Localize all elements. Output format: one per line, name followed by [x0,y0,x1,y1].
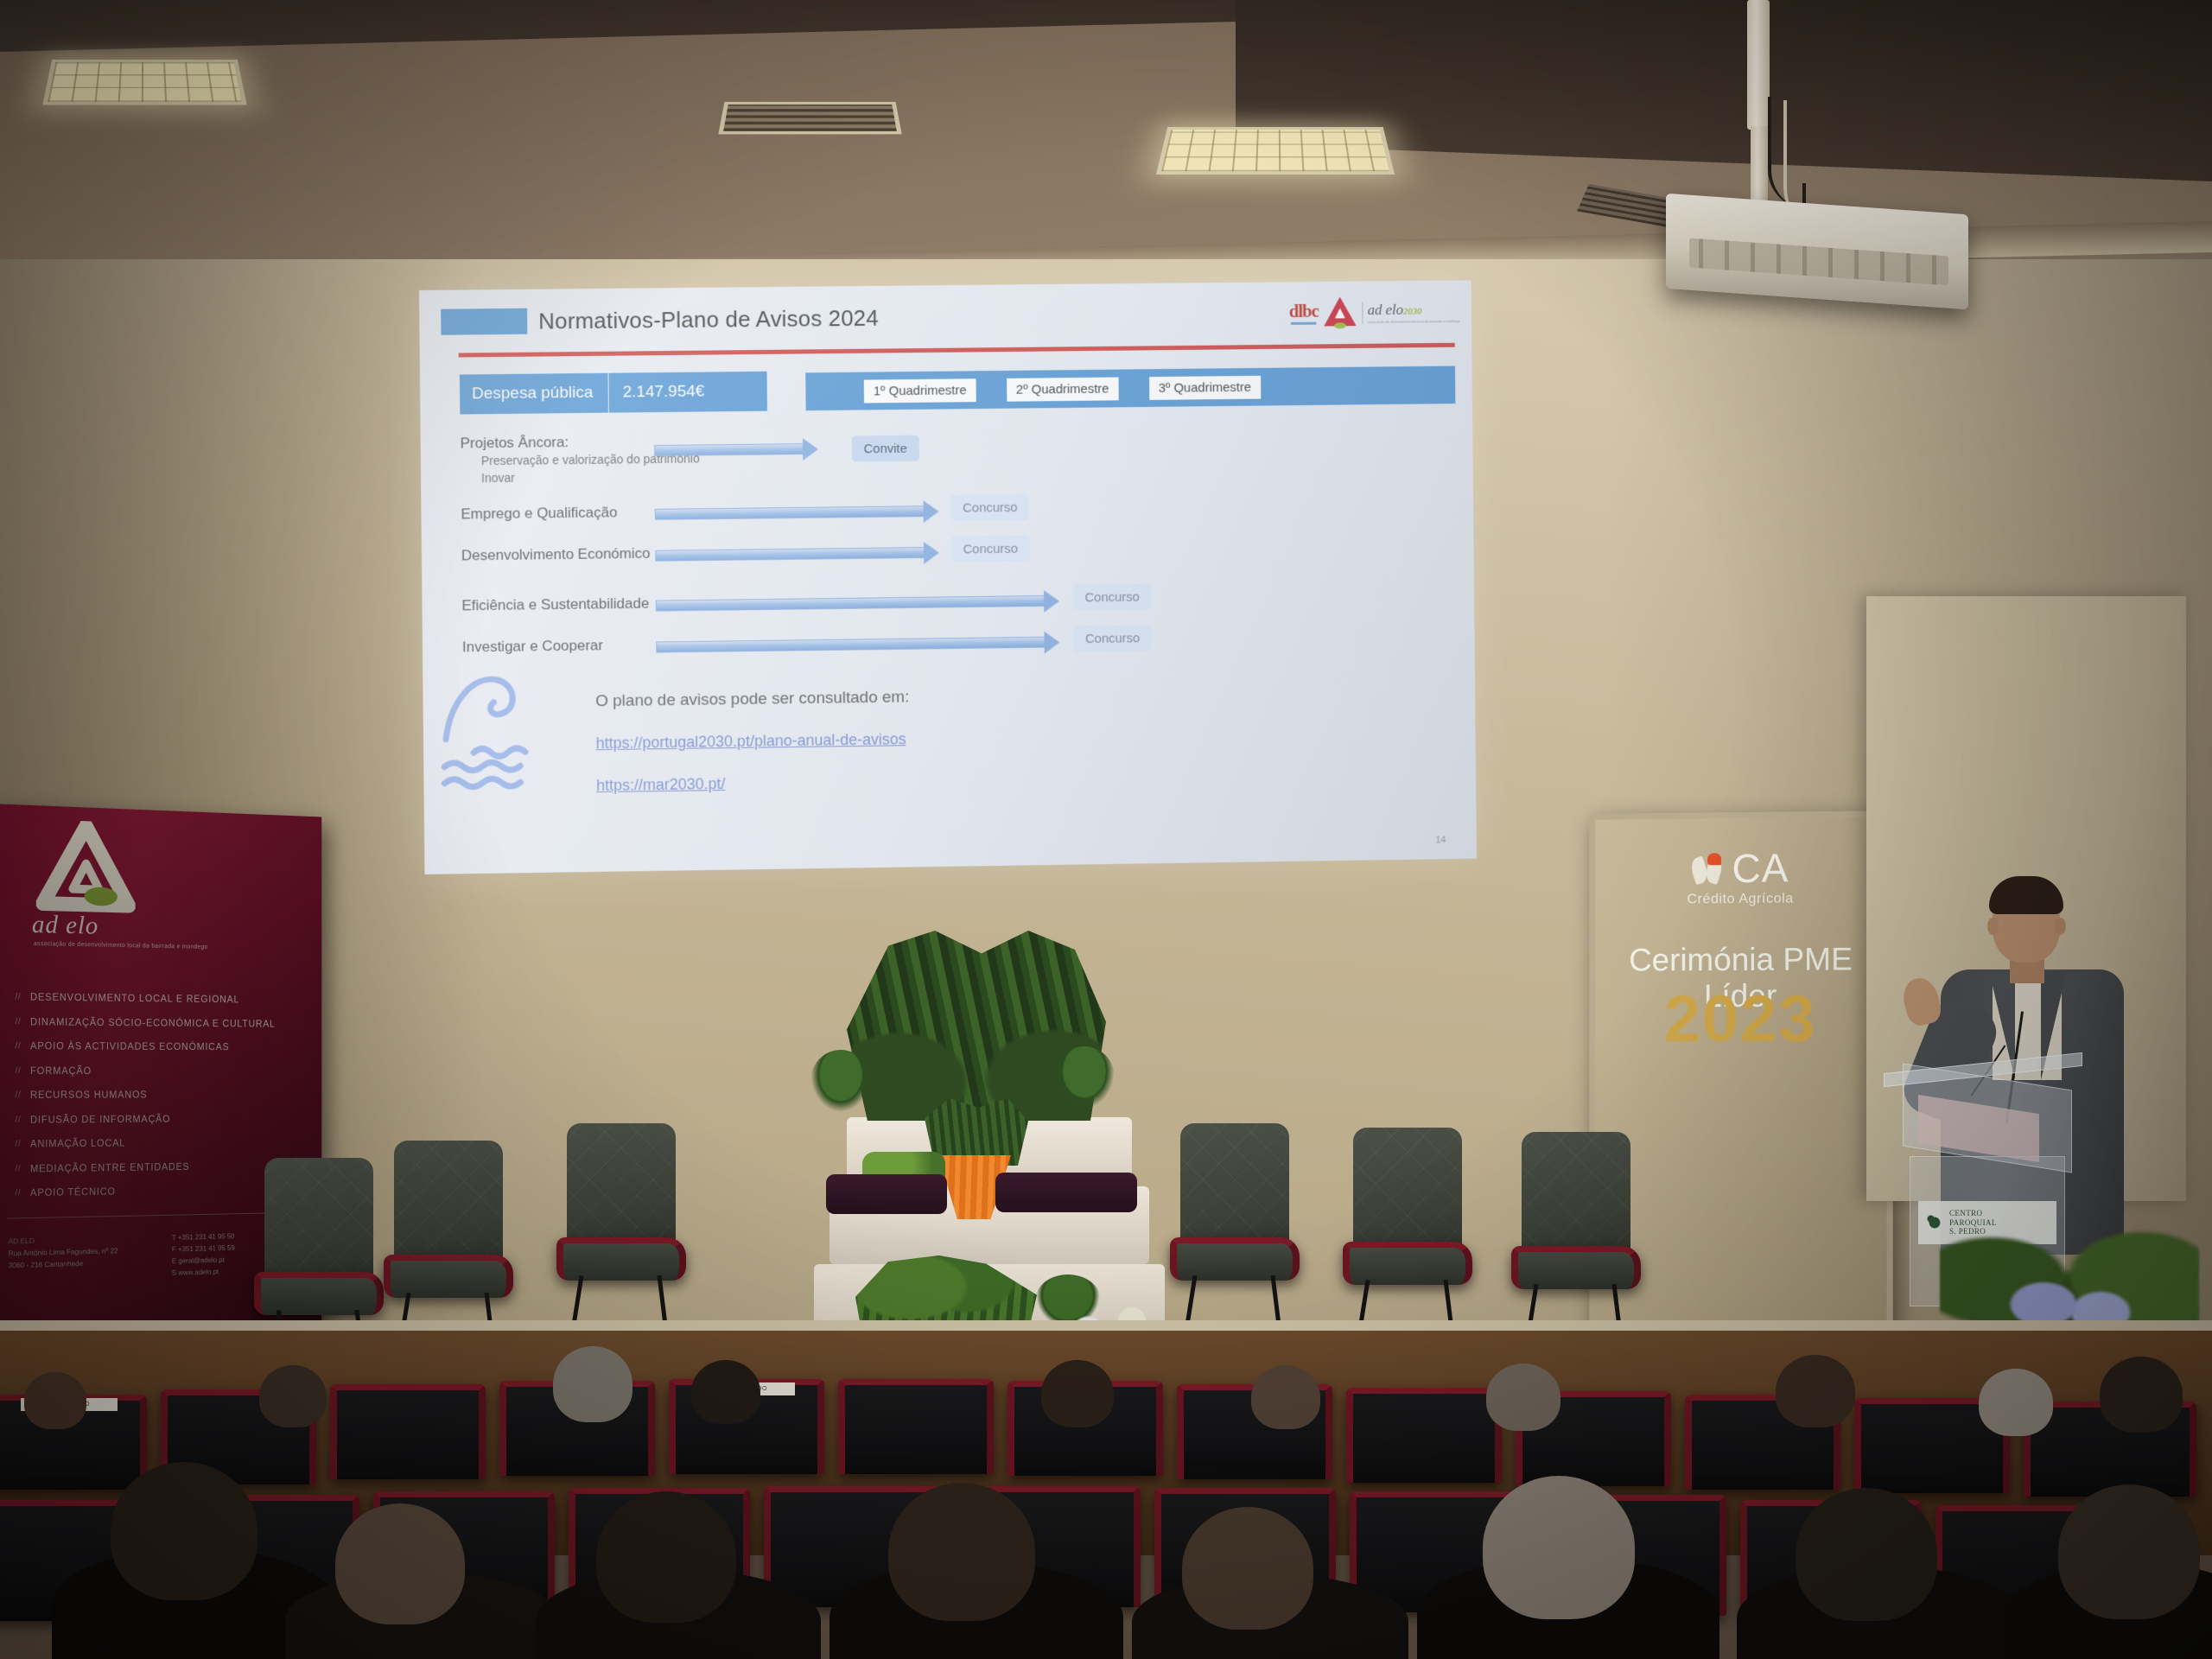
audience-head [1486,1363,1560,1431]
slide-title-rule [459,343,1455,358]
despesa-publica-value: 2.147.954€ [609,383,705,403]
audience-head [596,1491,736,1623]
audience-head [553,1346,632,1422]
row-chip-concurso: Concurso [1073,583,1152,610]
links-block: O plano de avisos pode ser consultado em… [595,688,910,819]
audience-area: RESERVADO RESERVADO [0,1331,2212,1659]
wave-icon [438,669,534,799]
row-chip-convite: Convite [852,435,919,462]
row-chip-concurso: Concurso [950,494,1029,521]
link-portugal2030[interactable]: https://portugal2030.pt/plano-anual-de-a… [596,730,910,753]
auditorium-seat[interactable] [1346,1388,1502,1483]
projection-screen: Normativos-Plano de Avisos 2024 dlbc ad … [419,280,1477,874]
quadrimestre-bar: 1º Quadrimestre 2º Quadrimestre 3º Quadr… [805,366,1455,411]
timeline-row: Projetos Âncora: Preservação e valorizaç… [461,424,1462,501]
row-label: Desenvolvimento Económico [461,545,651,565]
speaker-ear-right [2055,918,2066,935]
row-sublabel-2: Inovar [481,471,515,485]
speaker-ear-left [1987,918,1999,935]
light-panel-center [1156,127,1395,175]
stage-chair [1508,1132,1643,1331]
leafy-green-right [1054,1046,1115,1109]
ceiling-air-vent [718,102,901,135]
slide-title-accent-tab [441,308,527,335]
presentation-slide: Normativos-Plano de Avisos 2024 dlbc ad … [419,280,1477,874]
purple-lettuce-left [826,1174,947,1214]
projector-pole [1747,0,1770,130]
auditorium-seat[interactable] [330,1384,486,1479]
audience-head [335,1503,465,1624]
audience-head [259,1365,327,1427]
row-arrow [656,595,1046,612]
audience-head [2100,1357,2183,1433]
audience-head [1979,1369,2053,1436]
audience-head [1182,1507,1313,1630]
despesa-publica-label: Despesa pública [460,384,608,404]
row-label: Investigar e Cooperar [462,637,603,656]
dlbc-logo: dlbc [1289,302,1319,325]
adelo-triangle-icon [1324,296,1357,329]
purple-lettuce-right [995,1173,1137,1212]
row-chip-concurso: Concurso [951,536,1030,563]
row-arrow [654,443,804,456]
stage-chair [380,1141,515,1339]
audience-head [1251,1365,1320,1429]
slide-number: 14 [1435,835,1446,845]
audience-head [1041,1360,1114,1427]
auditorium-seat[interactable] [838,1379,994,1474]
row-label: Emprego e Qualificação [461,504,617,523]
despesa-publica-box: Despesa pública 2.147.954€ [460,372,767,415]
speaker-hair [1989,876,2063,914]
quadrimestre-1-chip: 1º Quadrimestre [864,378,976,403]
audience-head [2058,1484,2200,1619]
audience-head [24,1372,86,1429]
row-chip-concurso: Concurso [1073,625,1152,652]
audience-head [1776,1355,1855,1427]
stage-chair [1166,1123,1301,1322]
adelo-logo: ad elo2030 associação de desenvolvimento… [1363,301,1460,324]
slide-logo-group: dlbc ad elo2030 associação de desenvolvi… [1289,296,1460,330]
audience-head [111,1462,257,1600]
row-arrow [656,637,1046,653]
audience-head [888,1483,1035,1621]
stage-chair [553,1123,688,1322]
light-panel-left [42,60,246,105]
conference-hall-scene: Normativos-Plano de Avisos 2024 dlbc ad … [0,0,2212,1659]
adelo-logo-year: 2030 [1403,307,1422,317]
audience-head [1483,1476,1635,1619]
dlbc-logo-text: dlbc [1289,302,1319,321]
despesa-publica-row: Despesa pública 2.147.954€ 1º Quadrimest… [460,365,1455,415]
quadrimestre-2-chip: 2º Quadrimestre [1007,377,1119,401]
audience-head [1796,1488,1937,1621]
row-label: Eficiência e Sustentabilidade [461,595,649,615]
audience-head [691,1360,760,1424]
leafy-green-left [810,1050,871,1112]
adelo-logo-text: ad elo2030 [1368,301,1460,319]
link-mar2030[interactable]: https://mar2030.pt/ [596,772,910,795]
slide-title: Normativos-Plano de Avisos 2024 [538,305,879,335]
links-lead-text: O plano de avisos pode ser consultado em… [595,688,909,711]
row-label: Projetos Âncora: [461,434,569,452]
stage-chair [1339,1128,1474,1326]
dlbc-logo-bar [1291,322,1317,325]
row-arrow [655,547,925,562]
quadrimestre-3-chip: 3º Quadrimestre [1149,375,1261,399]
adelo-logo-tagline: associação de desenvolvimento local da b… [1368,319,1460,324]
row-arrow [655,505,925,520]
timeline-rows: Projetos Âncora: Preservação e valorizaç… [461,424,1463,672]
